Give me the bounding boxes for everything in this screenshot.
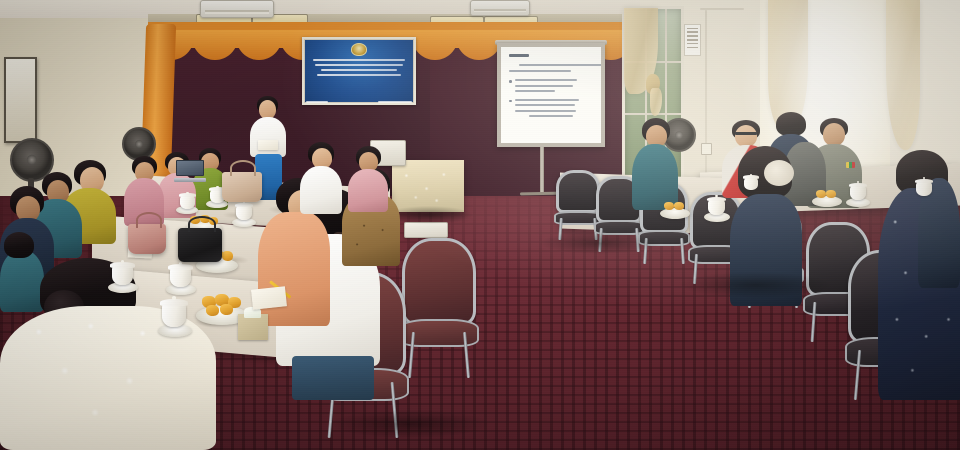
ceiling-conduit [700,8,744,10]
fried-snack [206,305,219,316]
fried-snack [674,202,684,210]
air-conditioner-1 [200,0,274,18]
tan-handbag-handle [230,160,256,176]
slide-title [509,54,529,57]
fried-snack [220,304,233,315]
slide-bullet [509,99,595,121]
tan-handbag [222,172,262,202]
framed-wall-panel [4,57,37,143]
audience-person-mid-b [348,146,388,212]
snack-plate [812,196,842,207]
rose-handbag-handle [136,212,162,228]
lidded-tea-cup [162,304,186,327]
writer-skirt [292,356,374,400]
sunglasses [735,132,757,135]
conference-hall-photograph: Seminar / training workshop in a hotel c… [0,0,960,450]
bullet-dot-icon [509,80,512,83]
chair-empty-7 [402,238,476,378]
air-conditioner-2 [470,0,530,16]
flag-patch-icon [846,162,855,168]
projector-unit [404,222,448,238]
slide-body-line [509,70,571,72]
slide-canvas [501,47,601,143]
black-handbag [178,228,222,262]
tissue-box [238,314,268,340]
lidded-tea-cup [170,268,191,287]
banner-text-line [317,74,401,77]
banner-text-line [313,59,405,62]
rose-handbag [128,224,166,254]
fried-snack [826,190,836,198]
lidded-tea-cup [744,178,758,190]
lidded-tea-cup [708,200,725,215]
banner-text-line [315,64,403,67]
stage-side-table [392,160,464,212]
electrical-conduit-vertical [705,10,707,145]
lidded-tea-cup [112,266,133,285]
audience-person-mid-a [300,142,342,214]
projection-screen [497,43,605,147]
snack-plate [660,208,690,219]
audience-person-teal-right [632,118,678,210]
paper-napkin [251,286,287,309]
lidded-tea-cup [850,186,866,200]
black-handbag-handle [188,216,216,232]
banner-footer [306,101,412,103]
government-seal-icon [351,43,367,56]
fried-snack [222,251,233,261]
presenter-papers [258,140,278,150]
event-banner [302,37,416,105]
lidded-tea-cup [236,206,252,220]
laptop [176,160,204,182]
banner-text-line [321,69,397,72]
audience-person-bow-hair [730,146,802,306]
window-curtain-far-right [886,0,920,150]
wall-socket [701,143,712,155]
bullet-dot-icon [509,100,512,103]
wall-notice [684,24,701,56]
fried-snack [664,202,674,210]
hair-scrunchie [764,160,794,186]
slide-bullet [509,79,595,96]
fried-snack [816,190,826,198]
presenter-blouse [250,117,286,157]
lidded-tea-cup [180,196,195,209]
screen-stand [540,147,544,195]
lidded-tea-cup [916,182,932,196]
slide-body-line [519,64,601,66]
